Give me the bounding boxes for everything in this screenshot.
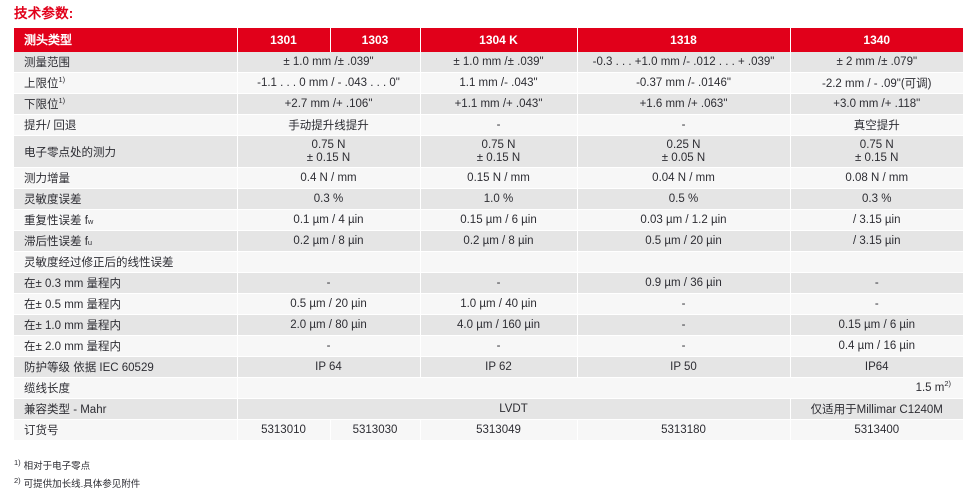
table-row: 灵敏度误差0.3 %1.0 %0.5 %0.3 % <box>14 189 963 210</box>
row-label: 缆线长度 <box>14 378 237 399</box>
table-cell: / 3.15 µin <box>790 231 963 252</box>
table-row: 在± 1.0 mm 量程内2.0 µm / 80 µin4.0 µm / 160… <box>14 315 963 336</box>
table-header: 测头类型130113031304 K13181340 <box>14 28 963 52</box>
table-row: 缆线长度1.5 m2) <box>14 378 963 399</box>
table-cell: ± 1.0 mm /± .039" <box>420 52 577 73</box>
table-cell: 0.75 N± 0.15 N <box>790 136 963 168</box>
table-cell: ± 2 mm /± .079" <box>790 52 963 73</box>
table-cell: 0.4 N / mm <box>237 168 420 189</box>
column-header-c1304k: 1304 K <box>420 28 577 52</box>
footnote-marker: 2) <box>944 379 951 388</box>
column-header-c1303: 1303 <box>330 28 420 52</box>
table-cell <box>237 252 420 273</box>
table-row: 重复性误差 fw0.1 µm / 4 µin0.15 µm / 6 µin0.0… <box>14 210 963 231</box>
table-row: 上限位1)-1.1 . . . 0 mm / - .043 . . . 0"1.… <box>14 73 963 94</box>
spec-sheet-page: 技术参数: 测头类型130113031304 K13181340 测量范围± 1… <box>0 0 977 500</box>
table-row: 下限位1)+2.7 mm /+ .106"+1.1 mm /+ .043"+1.… <box>14 94 963 115</box>
table-cell: 0.9 µm / 36 µin <box>577 273 790 294</box>
table-cell: 仅适用于Millimar C1240M <box>790 399 963 420</box>
table-cell: 0.4 µm / 16 µin <box>790 336 963 357</box>
table-cell: ± 1.0 mm /± .039" <box>237 52 420 73</box>
footnote-marker: 1) <box>14 458 21 467</box>
table-cell: +2.7 mm /+ .106" <box>237 94 420 115</box>
row-label: 电子零点处的测力 <box>14 136 237 168</box>
table-cell: - <box>577 294 790 315</box>
table-cell: 0.25 N± 0.05 N <box>577 136 790 168</box>
table-cell: - <box>790 273 963 294</box>
table-row: 滞后性误差 fu0.2 µm / 8 µin0.2 µm / 8 µin0.5 … <box>14 231 963 252</box>
table-cell: 4.0 µm / 160 µin <box>420 315 577 336</box>
table-cell: 0.08 N / mm <box>790 168 963 189</box>
table-cell: 0.15 N / mm <box>420 168 577 189</box>
table-cell: -0.37 mm /- .0146" <box>577 73 790 94</box>
table-cell: 0.03 µm / 1.2 µin <box>577 210 790 231</box>
table-cell: - <box>237 273 420 294</box>
footnote-text: 可提供加长线.具体参见附件 <box>24 479 141 490</box>
table-cell: +1.6 mm /+ .063" <box>577 94 790 115</box>
table-cell: IP 62 <box>420 357 577 378</box>
table-cell: 0.2 µm / 8 µin <box>237 231 420 252</box>
footnote-item: 2)可提供加长线.具体参见附件 <box>14 474 140 492</box>
table-header-row: 测头类型130113031304 K13181340 <box>14 28 963 52</box>
table-row: 电子零点处的测力0.75 N± 0.15 N0.75 N± 0.15 N0.25… <box>14 136 963 168</box>
table-cell: 5313049 <box>420 420 577 441</box>
table-cell: 1.1 mm /- .043" <box>420 73 577 94</box>
table-cell: IP 64 <box>237 357 420 378</box>
table-row: 灵敏度经过修正后的线性误差 <box>14 252 963 273</box>
table-row: 兼容类型 - MahrLVDT仅适用于Millimar C1240M <box>14 399 963 420</box>
table-cell: 0.3 % <box>790 189 963 210</box>
table-cell: 0.15 µm / 6 µin <box>790 315 963 336</box>
table-cell: 0.15 µm / 6 µin <box>420 210 577 231</box>
table-cell: - <box>577 336 790 357</box>
symbol-subscript: u <box>88 238 92 247</box>
table-cell: 真空提升 <box>790 115 963 136</box>
table-row: 提升/ 回退手动提升线提升--真空提升 <box>14 115 963 136</box>
footnote-item: 1)相对于电子零点 <box>14 456 140 474</box>
table-cell: 手动提升线提升 <box>237 115 420 136</box>
row-label: 订货号 <box>14 420 237 441</box>
row-label: 在± 0.5 mm 量程内 <box>14 294 237 315</box>
row-label: 在± 0.3 mm 量程内 <box>14 273 237 294</box>
table-cell: -1.1 . . . 0 mm / - .043 . . . 0" <box>237 73 420 94</box>
row-label: 在± 1.0 mm 量程内 <box>14 315 237 336</box>
table-cell: - <box>790 294 963 315</box>
table-cell: 1.0 µm / 40 µin <box>420 294 577 315</box>
table-row: 在± 2.0 mm 量程内---0.4 µm / 16 µin <box>14 336 963 357</box>
table-cell: +3.0 mm /+ .118" <box>790 94 963 115</box>
row-label: 下限位1) <box>14 94 237 115</box>
table-cell: 5313180 <box>577 420 790 441</box>
footnote-marker: 1) <box>59 96 66 105</box>
column-header-c1340: 1340 <box>790 28 963 52</box>
row-label: 灵敏度经过修正后的线性误差 <box>14 252 237 273</box>
row-label: 上限位1) <box>14 73 237 94</box>
table-cell: IP64 <box>790 357 963 378</box>
row-label: 灵敏度误差 <box>14 189 237 210</box>
column-header-c1301: 1301 <box>237 28 330 52</box>
row-label: 重复性误差 fw <box>14 210 237 231</box>
table-cell: - <box>420 336 577 357</box>
table-cell: - <box>420 273 577 294</box>
column-header-c1318: 1318 <box>577 28 790 52</box>
table-cell <box>790 252 963 273</box>
table-cell: 0.5 % <box>577 189 790 210</box>
row-label: 测量范围 <box>14 52 237 73</box>
table-cell: 5313010 <box>237 420 330 441</box>
table-cell: 0.2 µm / 8 µin <box>420 231 577 252</box>
table-cell: IP 50 <box>577 357 790 378</box>
table-cell: LVDT <box>237 399 790 420</box>
table-cell: - <box>420 115 577 136</box>
row-label: 滞后性误差 fu <box>14 231 237 252</box>
table-cell: 1.0 % <box>420 189 577 210</box>
table-cell: 0.5 µm / 20 µin <box>577 231 790 252</box>
table-row: 在± 0.5 mm 量程内0.5 µm / 20 µin1.0 µm / 40 … <box>14 294 963 315</box>
column-header-label: 测头类型 <box>14 28 237 52</box>
row-label: 防护等级 依据 IEC 60529 <box>14 357 237 378</box>
table-cell: 5313030 <box>330 420 420 441</box>
table-cell: 0.1 µm / 4 µin <box>237 210 420 231</box>
table-row: 测量范围± 1.0 mm /± .039"± 1.0 mm /± .039"-0… <box>14 52 963 73</box>
table-cell <box>420 252 577 273</box>
table-cell: - <box>577 315 790 336</box>
row-label: 在± 2.0 mm 量程内 <box>14 336 237 357</box>
technical-specifications-table: 测头类型130113031304 K13181340 测量范围± 1.0 mm … <box>14 28 963 441</box>
table-cell: 5313400 <box>790 420 963 441</box>
table-cell: 2.0 µm / 80 µin <box>237 315 420 336</box>
symbol-subscript: w <box>88 217 93 226</box>
table-cell: 1.5 m2) <box>237 378 963 399</box>
table-cell: - <box>237 336 420 357</box>
row-label: 兼容类型 - Mahr <box>14 399 237 420</box>
table-row: 测力增量0.4 N / mm0.15 N / mm0.04 N / mm0.08… <box>14 168 963 189</box>
table-row: 在± 0.3 mm 量程内--0.9 µm / 36 µin- <box>14 273 963 294</box>
table-cell: 0.04 N / mm <box>577 168 790 189</box>
footnote-marker: 2) <box>14 476 21 485</box>
table-cell <box>577 252 790 273</box>
table-cell: 0.75 N± 0.15 N <box>420 136 577 168</box>
footnotes: 1)相对于电子零点2)可提供加长线.具体参见附件 <box>14 456 140 492</box>
table-row: 防护等级 依据 IEC 60529IP 64IP 62IP 50IP64 <box>14 357 963 378</box>
table-cell: +1.1 mm /+ .043" <box>420 94 577 115</box>
table-cell: -0.3 . . . +1.0 mm /- .012 . . . + .039" <box>577 52 790 73</box>
table-row: 订货号53130105313030531304953131805313400 <box>14 420 963 441</box>
row-label: 测力增量 <box>14 168 237 189</box>
row-label: 提升/ 回退 <box>14 115 237 136</box>
table-cell: -2.2 mm / - .09"(可调) <box>790 73 963 94</box>
footnote-text: 相对于电子零点 <box>24 461 91 472</box>
table-cell: 0.75 N± 0.15 N <box>237 136 420 168</box>
table-cell: / 3.15 µin <box>790 210 963 231</box>
table-cell: 0.3 % <box>237 189 420 210</box>
table-body: 测量范围± 1.0 mm /± .039"± 1.0 mm /± .039"-0… <box>14 52 963 441</box>
footnote-marker: 1) <box>59 75 66 84</box>
table-cell: 0.5 µm / 20 µin <box>237 294 420 315</box>
table-cell: - <box>577 115 790 136</box>
page-title: 技术参数: <box>14 0 74 28</box>
